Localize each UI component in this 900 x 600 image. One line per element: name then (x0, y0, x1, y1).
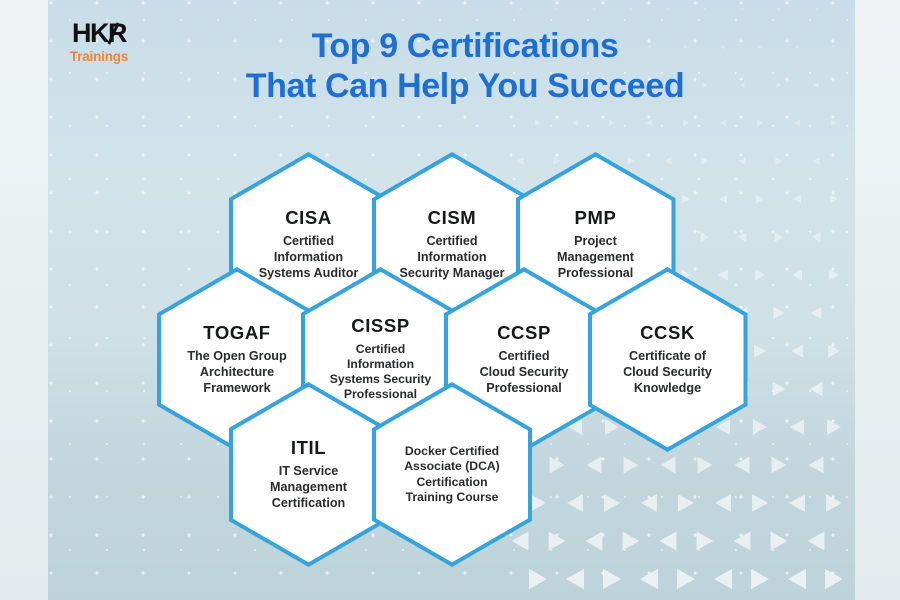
certification-hex-grid: CISACertifiedInformationSystems AuditorC… (0, 0, 900, 600)
certification-description: Certificate ofCloud SecurityKnowledge (593, 348, 743, 396)
hex-content: ITILIT ServiceManagementCertification (234, 438, 384, 512)
hex-content: TOGAFThe Open GroupArchitectureFramework (162, 323, 312, 397)
certification-description: CertifiedInformationSystems Auditor (234, 233, 384, 281)
certification-acronym: ITIL (234, 438, 384, 458)
infographic-poster: HKR Trainings Top 9 Certifications That … (0, 0, 900, 600)
certification-acronym: PMP (521, 208, 671, 228)
certification-description: CertifiedCloud SecurityProfessional (449, 348, 599, 396)
certification-description: ProjectManagementProfessional (521, 233, 671, 281)
certification-description: CertifiedInformationSecurity Manager (377, 233, 527, 281)
hex-content: CISACertifiedInformationSystems Auditor (234, 208, 384, 282)
certification-acronym: CISM (377, 208, 527, 228)
certification-acronym: CISA (234, 208, 384, 228)
certification-acronym: CCSP (449, 323, 599, 343)
hex-content: Docker CertifiedAssociate (DCA)Certifica… (377, 444, 527, 505)
hex-content: CISMCertifiedInformationSecurity Manager (377, 208, 527, 282)
certification-acronym: CCSK (593, 323, 743, 343)
hex-content: CCSKCertificate ofCloud SecurityKnowledg… (593, 323, 743, 397)
certification-acronym: CISSP (306, 316, 456, 336)
hex-content: PMPProjectManagementProfessional (521, 208, 671, 282)
certification-description: Docker CertifiedAssociate (DCA)Certifica… (377, 444, 527, 505)
certification-description: The Open GroupArchitectureFramework (162, 348, 312, 396)
hex-content: CCSPCertifiedCloud SecurityProfessional (449, 323, 599, 397)
certification-description: IT ServiceManagementCertification (234, 463, 384, 511)
hex-content: CISSPCertifiedInformationSystems Securit… (306, 316, 456, 402)
certification-acronym: TOGAF (162, 323, 312, 343)
